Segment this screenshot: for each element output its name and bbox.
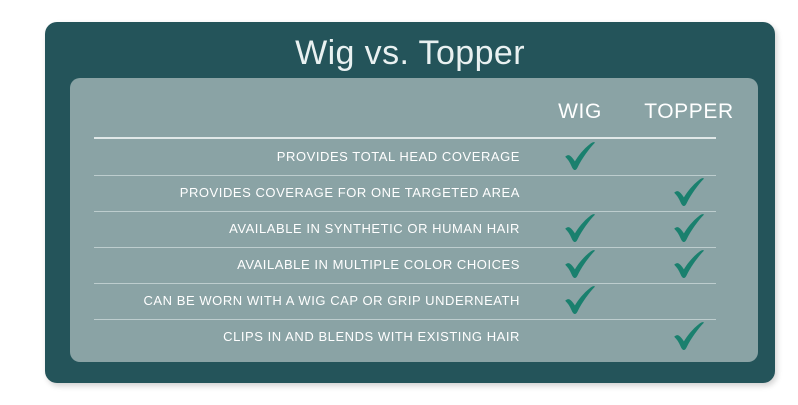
- cell-wig: [543, 175, 617, 211]
- comparison-card: Wig vs. Topper WIG TOPPER PROVIDES TOTAL…: [45, 22, 775, 383]
- check-mark-icon: [563, 286, 597, 316]
- comparison-infographic: Wig vs. Topper WIG TOPPER PROVIDES TOTAL…: [0, 0, 798, 405]
- cell-wig: [543, 139, 617, 175]
- row-label: PROVIDES TOTAL HEAD COVERAGE: [70, 139, 520, 175]
- check-mark-icon: [563, 142, 597, 172]
- column-header-wig: WIG: [543, 98, 617, 126]
- check-mark-icon: [563, 250, 597, 280]
- comparison-table-panel: WIG TOPPER PROVIDES TOTAL HEAD COVERAGEP…: [70, 78, 758, 362]
- table-row: PROVIDES TOTAL HEAD COVERAGE: [70, 139, 758, 175]
- cell-topper: [652, 139, 726, 175]
- check-mark-icon: [672, 214, 706, 244]
- cell-wig: [543, 211, 617, 247]
- check-mark-icon: [672, 250, 706, 280]
- table-row: AVAILABLE IN SYNTHETIC OR HUMAN HAIR: [70, 211, 758, 247]
- cell-topper: [652, 175, 726, 211]
- cell-topper: [652, 247, 726, 283]
- cell-wig: [543, 319, 617, 355]
- cell-topper: [652, 319, 726, 355]
- row-label: CAN BE WORN WITH A WIG CAP OR GRIP UNDER…: [70, 283, 520, 319]
- table-row: CLIPS IN AND BLENDS WITH EXISTING HAIR: [70, 319, 758, 355]
- row-label: AVAILABLE IN SYNTHETIC OR HUMAN HAIR: [70, 211, 520, 247]
- check-mark-icon: [672, 322, 706, 352]
- table-row: PROVIDES COVERAGE FOR ONE TARGETED AREA: [70, 175, 758, 211]
- table-row: AVAILABLE IN MULTIPLE COLOR CHOICES: [70, 247, 758, 283]
- row-label: PROVIDES COVERAGE FOR ONE TARGETED AREA: [70, 175, 520, 211]
- cell-topper: [652, 283, 726, 319]
- check-mark-icon: [563, 214, 597, 244]
- column-header-topper: TOPPER: [628, 98, 750, 126]
- table-rows: PROVIDES TOTAL HEAD COVERAGEPROVIDES COV…: [70, 139, 758, 355]
- row-label: AVAILABLE IN MULTIPLE COLOR CHOICES: [70, 247, 520, 283]
- cell-wig: [543, 283, 617, 319]
- cell-wig: [543, 247, 617, 283]
- row-label: CLIPS IN AND BLENDS WITH EXISTING HAIR: [70, 319, 520, 355]
- table-column-headers: WIG TOPPER: [70, 98, 758, 128]
- page-title: Wig vs. Topper: [45, 33, 775, 73]
- cell-topper: [652, 211, 726, 247]
- check-mark-icon: [672, 178, 706, 208]
- table-row: CAN BE WORN WITH A WIG CAP OR GRIP UNDER…: [70, 283, 758, 319]
